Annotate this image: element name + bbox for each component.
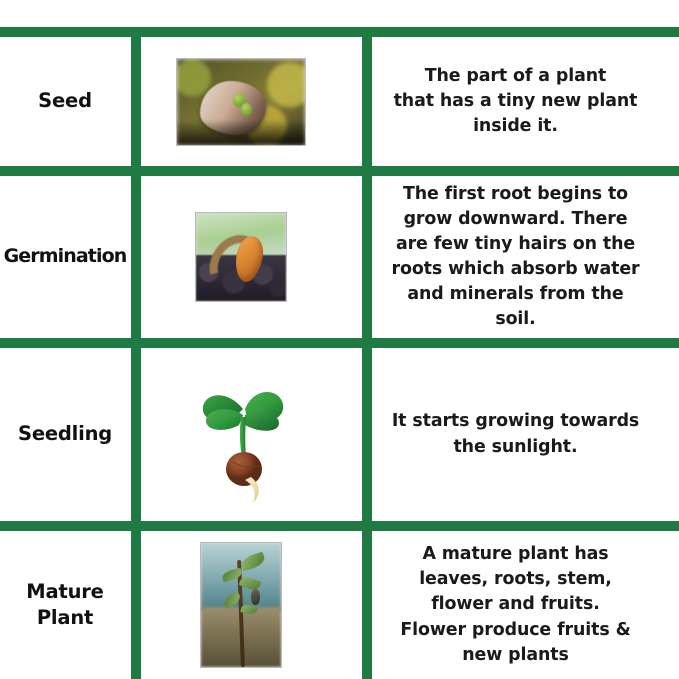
plant-life-cycle-table: Seed The part of a plant that has a tiny… xyxy=(0,0,679,679)
table-row: Mature Plant A mature plant has leaves, … xyxy=(0,531,679,679)
stage-description: The first root begins to grow downward. … xyxy=(392,182,640,332)
stage-label-cell: Germination xyxy=(0,176,130,338)
seed-photo-shadow xyxy=(177,122,305,144)
stage-description-cell: The first root begins to grow downward. … xyxy=(352,176,679,338)
stage-name: Seed xyxy=(38,88,92,114)
stage-description: A mature plant has leaves, roots, stem, … xyxy=(400,542,630,667)
stage-image-cell xyxy=(130,176,352,338)
seed-photo xyxy=(176,58,306,146)
germination-photo xyxy=(195,212,287,302)
grid-line-row3-row4 xyxy=(0,521,679,531)
stage-description-cell: A mature plant has leaves, roots, stem, … xyxy=(352,531,679,679)
stage-description-cell: The part of a plant that has a tiny new … xyxy=(352,37,679,166)
table-row: Seedling xyxy=(0,348,679,521)
stage-name: Seedling xyxy=(18,421,112,447)
stage-label-cell: Seed xyxy=(0,37,130,166)
table-row: Seed The part of a plant that has a tiny… xyxy=(0,37,679,166)
table-row: Germination The first root begins to gro… xyxy=(0,176,679,338)
fruit-shape xyxy=(251,589,260,605)
stage-name: Mature Plant xyxy=(26,579,103,632)
stage-description-cell: It starts growing towards the sunlight. xyxy=(352,348,679,521)
stage-description: It starts growing towards the sunlight. xyxy=(392,409,639,459)
stage-image-cell xyxy=(130,348,352,521)
grid-line-top xyxy=(0,27,679,37)
stage-label-cell: Seedling xyxy=(0,348,130,521)
mature-plant-photo xyxy=(200,542,282,668)
stage-name: Germination xyxy=(4,244,127,270)
stage-label-cell: Mature Plant xyxy=(0,531,130,679)
grid-line-row1-row2 xyxy=(0,166,679,176)
stage-description: The part of a plant that has a tiny new … xyxy=(394,64,638,139)
grid-line-row2-row3 xyxy=(0,338,679,348)
stage-image-cell xyxy=(130,37,352,166)
stage-image-cell xyxy=(130,531,352,679)
seedling-illustration xyxy=(189,365,293,505)
